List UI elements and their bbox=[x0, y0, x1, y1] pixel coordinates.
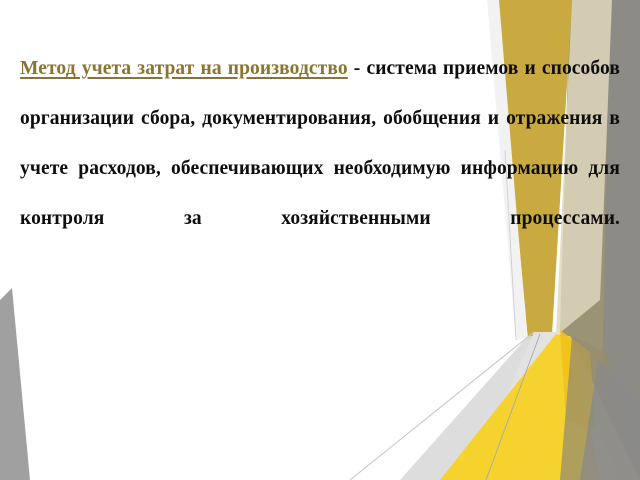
defined-term: Метод учета затрат на производство bbox=[20, 58, 348, 79]
decor-gray-overlay-lower bbox=[580, 360, 640, 480]
decor-gray-triangle-lower bbox=[400, 336, 640, 480]
decor-olive-overlay-lower bbox=[560, 336, 640, 480]
body-text-block: Метод учета затрат на производство - сис… bbox=[20, 44, 620, 294]
decor-amber-accent bbox=[560, 330, 596, 430]
slide-canvas: Метод учета затрат на производство - сис… bbox=[0, 0, 640, 480]
decor-gray-wedge-bottom-left bbox=[0, 288, 30, 480]
definition-text: система приемов и способов организации с… bbox=[20, 58, 620, 229]
term-separator: - bbox=[348, 58, 367, 79]
decor-hairline-diagonal-long bbox=[350, 332, 534, 480]
decor-hairline-diagonal-short bbox=[486, 334, 540, 480]
decor-light-gray-fan bbox=[470, 332, 620, 480]
definition-paragraph: Метод учета затрат на производство - сис… bbox=[20, 44, 620, 294]
decor-yellow-band-lower bbox=[440, 334, 600, 480]
